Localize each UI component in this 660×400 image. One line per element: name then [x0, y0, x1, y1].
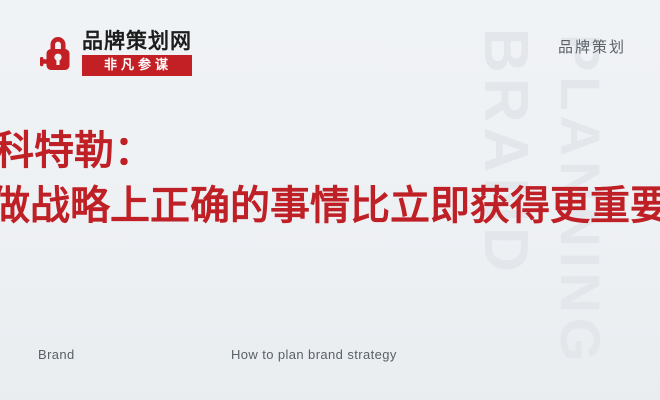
footer-brand-label: Brand [38, 348, 75, 361]
headline-line-1: 科特勒： [0, 124, 660, 179]
footer: Brand How to plan brand strategy [0, 345, 660, 367]
headline: 科特勒： 做战略上正确的事情比立即获得更重要 [0, 124, 660, 234]
header-kicker: 品牌策划 [558, 36, 626, 57]
footer-subtitle: How to plan brand strategy [231, 348, 397, 361]
article-cover-banner: BRAND PLANNING 品牌策划网 非凡参谋 品牌策划 科特勒： 做战略 [0, 0, 660, 400]
logo-text-block: 品牌策划网 非凡参谋 [82, 31, 192, 76]
site-logo[interactable]: 品牌策划网 非凡参谋 [40, 31, 192, 76]
logo-title: 品牌策划网 [82, 31, 192, 52]
padlock-key-icon [40, 32, 75, 76]
logo-tagline: 非凡参谋 [82, 55, 192, 76]
headline-line-2: 做战略上正确的事情比立即获得更重要 [0, 179, 660, 234]
